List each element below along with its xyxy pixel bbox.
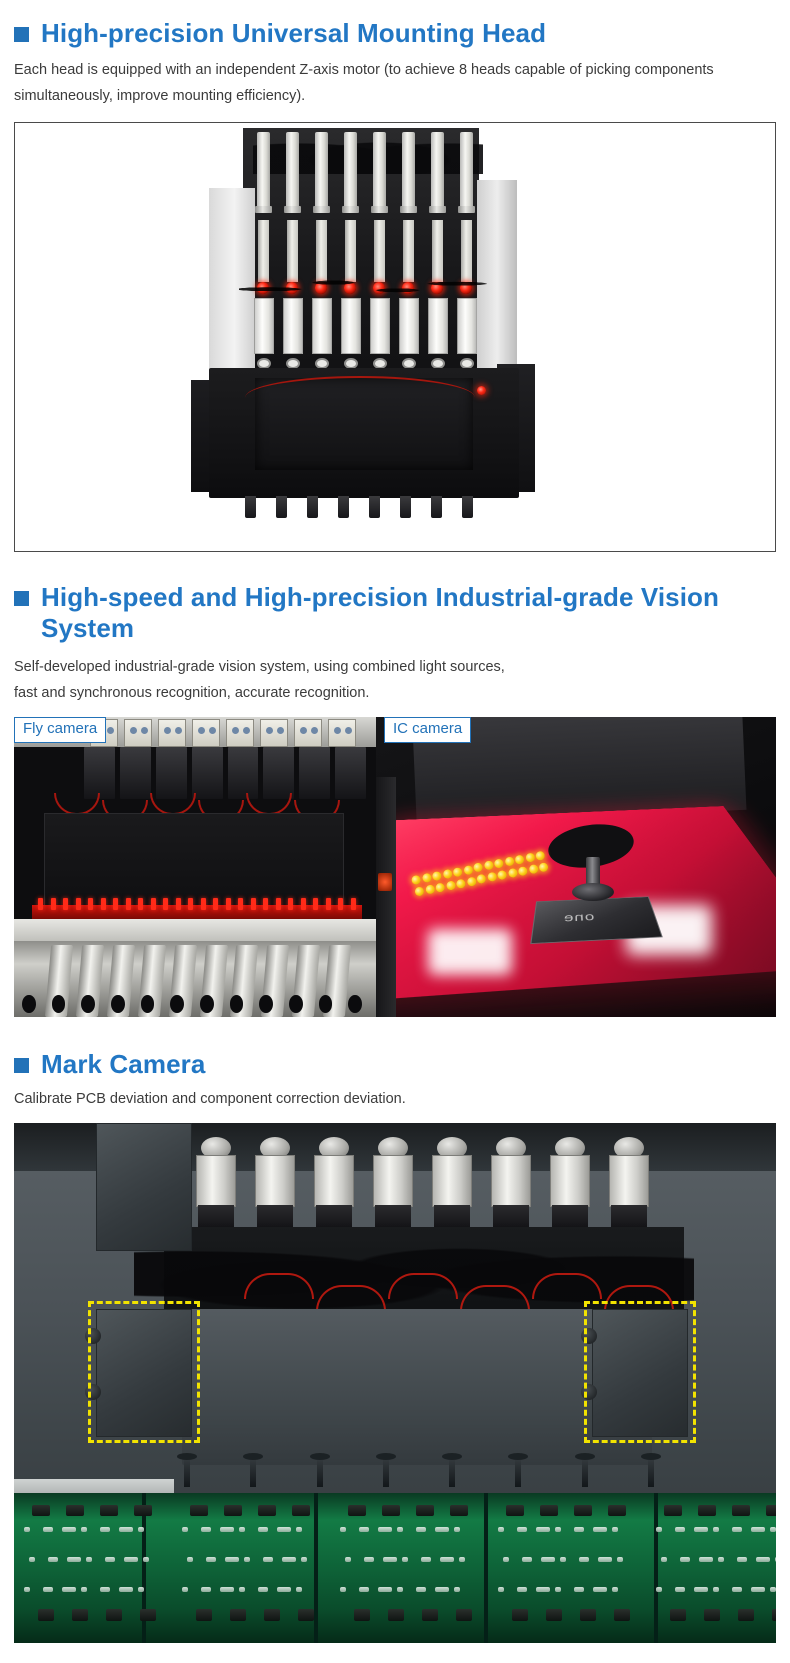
pcb-pad	[770, 1527, 776, 1532]
pcb-pad	[402, 1557, 408, 1562]
ic-led	[497, 870, 508, 881]
pcb-component	[32, 1505, 50, 1516]
ic-led	[421, 873, 432, 884]
bullet-square-icon	[14, 591, 29, 606]
fly-led	[288, 898, 293, 910]
ic-left-edge-strip	[376, 777, 396, 1017]
pcb-seam	[654, 1493, 658, 1643]
nozzle-body	[370, 298, 390, 354]
ic-led	[466, 876, 477, 887]
pcb-pad	[225, 1557, 239, 1562]
nozzle-tube	[550, 1155, 590, 1207]
pcb-panel	[14, 1493, 776, 1643]
pcb-pad	[574, 1527, 584, 1532]
pcb-component	[608, 1505, 626, 1516]
pcb-component	[292, 1505, 310, 1516]
nozzle-tube	[432, 1155, 472, 1207]
pcb-component	[546, 1609, 562, 1621]
vision-figure-pair: Fly camera one IC camera	[14, 717, 776, 1017]
pcb-pad	[296, 1527, 302, 1532]
pcb-component	[704, 1609, 720, 1621]
fly-led	[263, 898, 268, 910]
nozzle-column	[456, 132, 478, 364]
nozzle-body	[457, 298, 477, 354]
pcb-pad	[579, 1557, 589, 1562]
pcb-pad	[713, 1527, 719, 1532]
nozzle-body	[428, 298, 448, 354]
fly-hole	[141, 995, 155, 1013]
fly-led	[326, 898, 331, 910]
nozzle-body	[341, 298, 361, 354]
pcb-pad	[143, 1557, 149, 1562]
pcb-pad	[756, 1557, 770, 1562]
pcb-component	[512, 1609, 528, 1621]
pcb-pad	[732, 1527, 742, 1532]
pcb-pad	[498, 1587, 504, 1592]
fly-led	[188, 898, 193, 910]
pcb-pad	[201, 1587, 211, 1592]
ic-led	[462, 865, 473, 876]
pcb-component	[100, 1505, 118, 1516]
head-tab	[338, 496, 349, 518]
nozzle-lower-shaft	[316, 220, 327, 282]
pcb-pad	[100, 1587, 110, 1592]
nozzle-collar	[342, 206, 359, 213]
nozzle-collar	[458, 206, 475, 213]
pcb-component	[224, 1505, 242, 1516]
ic-pickup-nozzle	[572, 857, 614, 901]
ic-component-chip: one	[530, 897, 663, 944]
pcb-component	[416, 1505, 434, 1516]
fly-led	[276, 898, 281, 910]
pcb-component	[738, 1609, 754, 1621]
fly-hole	[81, 995, 95, 1013]
fly-red-wire	[54, 793, 100, 815]
ic-led	[535, 850, 546, 861]
pcb-pad	[737, 1557, 747, 1562]
pcb-pad	[282, 1557, 296, 1562]
mark-nozzle	[251, 1137, 299, 1227]
nozzle-tube	[255, 1155, 295, 1207]
nozzle-upper-shaft	[373, 132, 386, 210]
pcb-pad	[239, 1587, 245, 1592]
pcb-pad	[541, 1557, 555, 1562]
nozzle-collar	[371, 206, 388, 213]
ic-led	[431, 871, 442, 882]
pcb-pad	[138, 1587, 144, 1592]
pcb-pad	[258, 1587, 268, 1592]
pcb-pad	[67, 1557, 81, 1562]
pcb-component	[450, 1505, 468, 1516]
pcb-pad	[378, 1587, 392, 1592]
nozzle-collar	[255, 206, 272, 213]
nozzle-upper-shaft	[431, 132, 444, 210]
fly-led	[351, 898, 356, 910]
nozzle-body	[254, 298, 274, 354]
head-lower-housing	[209, 368, 519, 498]
pcb-component	[38, 1609, 54, 1621]
pcb-pad	[732, 1587, 742, 1592]
nozzle-body	[312, 298, 332, 354]
pcb-pad	[119, 1587, 133, 1592]
fly-led	[51, 898, 56, 910]
pcb-pad	[397, 1587, 403, 1592]
pcb-pad	[421, 1557, 431, 1562]
pcb-pad	[593, 1587, 607, 1592]
pcb-pad	[206, 1557, 216, 1562]
pcb-pad	[43, 1527, 53, 1532]
mark-nozzle-pins	[184, 1453, 654, 1487]
pcb-component	[190, 1505, 208, 1516]
pcb-pad	[81, 1527, 87, 1532]
nozzle-upper-shaft	[344, 132, 357, 210]
ic-led	[524, 852, 535, 863]
nozzle-tube	[491, 1155, 531, 1207]
nozzle-tube	[314, 1155, 354, 1207]
fly-head-unit	[226, 719, 254, 747]
pcb-pad	[680, 1557, 690, 1562]
pcb-pad	[435, 1527, 449, 1532]
pcb-component	[456, 1609, 472, 1621]
ic-led	[452, 867, 463, 878]
nozzle-lower-shaft	[374, 220, 385, 282]
ic-led	[455, 878, 466, 889]
fly-led	[113, 898, 118, 910]
pcb-pad	[694, 1587, 708, 1592]
ic-led	[493, 858, 504, 869]
pcb-pad	[48, 1557, 58, 1562]
pcb-pad	[340, 1587, 346, 1592]
pcb-component	[66, 1505, 84, 1516]
pcb-pad	[258, 1527, 268, 1532]
pcb-component	[540, 1505, 558, 1516]
pcb-component	[140, 1609, 156, 1621]
pcb-pad	[277, 1587, 291, 1592]
head-status-led-icon	[477, 386, 486, 395]
fly-hole	[230, 995, 244, 1013]
nozzle-collar	[400, 206, 417, 213]
fly-label-strip	[14, 919, 376, 943]
fly-red-led-bar	[32, 905, 362, 919]
ic-nozzle-disc	[572, 883, 614, 901]
nozzle-column	[340, 132, 362, 364]
fly-red-wire	[246, 793, 292, 815]
pcb-pad	[440, 1557, 454, 1562]
head-tab	[431, 496, 442, 518]
pcb-pad	[751, 1527, 765, 1532]
pcb-component	[106, 1609, 122, 1621]
pcb-pad	[713, 1587, 719, 1592]
nozzle-upper-shaft	[286, 132, 299, 210]
head-bottom-tabs	[245, 496, 473, 518]
mark-pin	[648, 1453, 654, 1487]
pcb-pad	[100, 1527, 110, 1532]
mark-nozzle	[192, 1137, 240, 1227]
pcb-pad	[81, 1587, 87, 1592]
mark-nozzle	[310, 1137, 358, 1227]
mark-nozzle	[546, 1137, 594, 1227]
nozzle-lower-shaft	[345, 220, 356, 282]
pcb-pad	[182, 1527, 188, 1532]
product-feature-page: High-precision Universal Mounting Head E…	[0, 0, 790, 1663]
pcb-pad	[62, 1527, 76, 1532]
nozzle-body	[399, 298, 419, 354]
pcb-component	[670, 1609, 686, 1621]
section-header-mark-camera: Mark Camera	[14, 1049, 776, 1080]
mark-nozzle	[428, 1137, 476, 1227]
pcb-pad	[454, 1527, 460, 1532]
head-tab	[400, 496, 411, 518]
pcb-pad	[119, 1527, 133, 1532]
highlight-box-left	[88, 1301, 200, 1443]
pcb-component	[382, 1505, 400, 1516]
nozzle-tube	[373, 1155, 413, 1207]
pcb-component	[298, 1609, 314, 1621]
mounting-head-scene	[15, 123, 775, 551]
pcb-pad	[105, 1557, 115, 1562]
ic-led	[504, 856, 515, 867]
pcb-component	[732, 1505, 750, 1516]
pcb-pad	[296, 1587, 302, 1592]
fly-hole	[111, 995, 125, 1013]
pcb-pad	[244, 1557, 250, 1562]
pcb-pad	[43, 1587, 53, 1592]
mark-pin	[317, 1453, 323, 1487]
ic-led	[442, 869, 453, 880]
pcb-pad	[593, 1527, 607, 1532]
bullet-square-icon	[14, 27, 29, 42]
pcb-component	[664, 1505, 682, 1516]
pcb-pad	[24, 1527, 30, 1532]
pcb-pad	[364, 1557, 374, 1562]
pcb-pad	[263, 1557, 273, 1562]
pcb-pad	[555, 1527, 561, 1532]
fly-head-unit	[124, 719, 152, 747]
pcb-pad	[277, 1527, 291, 1532]
pcb-pad	[345, 1557, 351, 1562]
section-description-vision-line2: fast and synchronous recognition, accura…	[14, 680, 776, 707]
nozzle-column	[369, 132, 391, 364]
head-red-wire	[245, 376, 475, 402]
pcb-pad	[718, 1557, 724, 1562]
page-title-mounting-head: High-precision Universal Mounting Head	[41, 18, 546, 49]
pcb-component	[580, 1609, 596, 1621]
fly-hole	[259, 995, 273, 1013]
ic-led	[445, 880, 456, 891]
fly-led	[226, 898, 231, 910]
pcb-pad	[770, 1587, 776, 1592]
mark-camera-module-left	[96, 1123, 192, 1251]
mark-camera-photo	[14, 1123, 776, 1643]
head-tab	[369, 496, 380, 518]
ic-led	[483, 860, 494, 871]
pcb-pad	[536, 1587, 550, 1592]
head-tab	[276, 496, 287, 518]
nozzle-upper-shaft	[402, 132, 415, 210]
pcb-seam	[314, 1493, 318, 1643]
highlight-box-right	[584, 1301, 696, 1443]
pcb-pad	[612, 1527, 618, 1532]
pcb-pad	[574, 1587, 584, 1592]
fly-led	[238, 898, 243, 910]
section-description-mark-camera: Calibrate PCB deviation and component co…	[14, 1086, 776, 1113]
section-header-vision-system: High-speed and High-precision Industrial…	[14, 582, 776, 643]
pcb-pad	[454, 1587, 460, 1592]
fly-led	[63, 898, 68, 910]
mark-pin	[449, 1453, 455, 1487]
pcb-pad	[397, 1527, 403, 1532]
head-tab	[462, 496, 473, 518]
mark-pin	[383, 1453, 389, 1487]
ic-led	[476, 874, 487, 885]
nozzle-body	[283, 298, 303, 354]
pcb-component	[230, 1609, 246, 1621]
bullet-square-icon	[14, 1058, 29, 1073]
pcb-pad	[359, 1587, 369, 1592]
pcb-pad	[522, 1557, 532, 1562]
fly-led	[88, 898, 93, 910]
fly-head-unit	[192, 719, 220, 747]
pcb-pad	[220, 1587, 234, 1592]
pcb-pad	[359, 1527, 369, 1532]
pcb-pad	[503, 1557, 509, 1562]
nozzle-collar	[313, 206, 330, 213]
pcb-pad	[340, 1527, 346, 1532]
fly-led	[338, 898, 343, 910]
pcb-pad	[29, 1557, 35, 1562]
pcb-pad	[694, 1527, 708, 1532]
pcb-pad	[517, 1587, 527, 1592]
ic-camera-label: IC camera	[384, 717, 471, 743]
fly-head-row	[90, 719, 358, 747]
pcb-component	[264, 1609, 280, 1621]
pcb-pad	[699, 1557, 713, 1562]
pcb-component	[388, 1609, 404, 1621]
pcb-pad	[301, 1557, 307, 1562]
fly-hole	[348, 995, 362, 1013]
ic-led	[411, 875, 422, 886]
pcb-component	[72, 1609, 88, 1621]
pcb-pad	[459, 1557, 465, 1562]
nozzle-column	[427, 132, 449, 364]
fly-led	[138, 898, 143, 910]
fly-led	[213, 898, 218, 910]
fly-camera-photo: Fly camera	[14, 717, 376, 1017]
pcb-component	[766, 1505, 776, 1516]
pcb-pad	[86, 1557, 92, 1562]
mark-pin	[184, 1453, 190, 1487]
fly-camera-label: Fly camera	[14, 717, 106, 743]
nozzle-lower-shaft	[287, 220, 298, 282]
pcb-component	[134, 1505, 152, 1516]
ic-led	[486, 872, 497, 883]
ic-led	[424, 884, 435, 895]
fly-head-unit	[158, 719, 186, 747]
nozzle-lower-shaft	[461, 220, 472, 282]
pcb-pad	[656, 1587, 662, 1592]
nozzle-column	[282, 132, 304, 364]
pcb-pad	[775, 1557, 776, 1562]
nozzle-upper-shaft	[315, 132, 328, 210]
fly-hole	[52, 995, 66, 1013]
mark-nozzle	[605, 1137, 653, 1227]
nozzle-column	[398, 132, 420, 364]
fly-led	[101, 898, 106, 910]
pcb-component	[348, 1505, 366, 1516]
fly-hole	[170, 995, 184, 1013]
pcb-component	[772, 1609, 776, 1621]
pcb-pad	[661, 1557, 667, 1562]
nozzle-collar	[284, 206, 301, 213]
fly-head-unit	[328, 719, 356, 747]
pcb-pad	[124, 1557, 138, 1562]
fly-led	[251, 898, 256, 910]
head-assembly	[191, 128, 531, 523]
pcb-pad	[612, 1587, 618, 1592]
pcb-component	[258, 1505, 276, 1516]
fly-led	[301, 898, 306, 910]
pcb-pad	[435, 1587, 449, 1592]
pcb-pad	[555, 1587, 561, 1592]
section-description-mounting-head: Each head is equipped with an independen…	[14, 57, 776, 111]
pcb-pad	[498, 1527, 504, 1532]
pcb-component	[698, 1505, 716, 1516]
pcb-pad	[675, 1587, 685, 1592]
page-title-mark-camera: Mark Camera	[41, 1049, 205, 1080]
fly-led	[201, 898, 206, 910]
fly-led	[163, 898, 168, 910]
pcb-pad	[517, 1527, 527, 1532]
pcb-component	[574, 1505, 592, 1516]
pcb-component	[614, 1609, 630, 1621]
ic-led	[473, 862, 484, 873]
pcb-pad	[383, 1557, 397, 1562]
fly-hole	[22, 995, 36, 1013]
fly-hole	[200, 995, 214, 1013]
pcb-pad	[201, 1527, 211, 1532]
pcb-component	[422, 1609, 438, 1621]
mark-pin	[582, 1453, 588, 1487]
nozzle-upper-shaft	[257, 132, 270, 210]
section-header-mounting-head: High-precision Universal Mounting Head	[14, 18, 776, 49]
pcb-pad	[536, 1527, 550, 1532]
pcb-pad	[598, 1557, 612, 1562]
mark-nozzle	[487, 1137, 535, 1227]
nozzle-lower-shaft	[258, 220, 269, 282]
nozzle-tube	[609, 1155, 649, 1207]
mark-nozzle-row	[192, 1137, 672, 1227]
pcb-pad	[220, 1527, 234, 1532]
ic-led	[514, 854, 525, 865]
pcb-component	[506, 1505, 524, 1516]
pcb-component	[354, 1609, 370, 1621]
fly-hole	[319, 995, 333, 1013]
fly-red-wire	[150, 793, 196, 815]
nozzle-column	[253, 132, 275, 364]
ic-led	[507, 868, 518, 879]
nozzle-lower-shaft	[403, 220, 414, 282]
fly-head-unit	[294, 719, 322, 747]
nozzle-tube	[196, 1155, 236, 1207]
pcb-pad	[239, 1527, 245, 1532]
fly-mounting-holes	[22, 995, 362, 1017]
head-tab	[307, 496, 318, 518]
ic-led	[414, 886, 425, 897]
mounting-head-photo	[14, 122, 776, 552]
pcb-pad	[675, 1527, 685, 1532]
fly-led	[76, 898, 81, 910]
nozzle-upper-shaft	[460, 132, 473, 210]
